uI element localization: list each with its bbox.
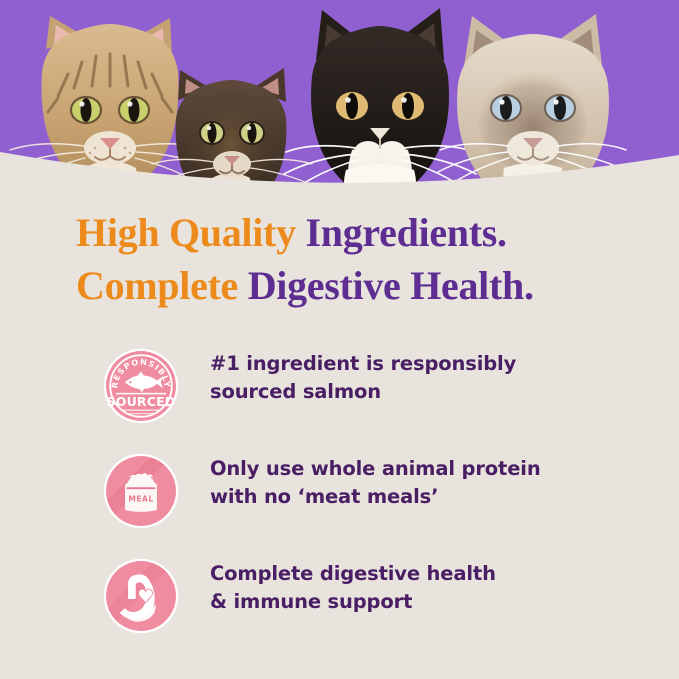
badge-main-text: MEAL [128,495,153,504]
feature-text-line-2: sourced salmon [210,378,650,406]
badge-main-text: SOURCED [107,394,176,409]
headline-line-2-orange: Complete [76,263,248,308]
feature-text-line-2: with no ‘meat meals’ [210,483,650,511]
list-item: MEAL Only use whole animal protein with … [0,445,679,550]
no-meat-meals-badge: MEAL [103,453,179,529]
headline-line-1-orange: High Quality [76,210,305,255]
feature-text: Complete digestive health & immune suppo… [210,560,650,617]
feature-text-line-1: Only use whole animal protein [210,455,650,483]
list-item: Complete digestive health & immune suppo… [0,550,679,655]
seal-point-ragdoll-cat [438,14,628,190]
feature-text: Only use whole animal protein with no ‘m… [210,455,650,512]
headline-line-2: Complete Digestive Health. [76,260,676,313]
feature-text: #1 ingredient is responsibly sourced sal… [210,350,650,407]
feature-text-line-1: Complete digestive health [210,560,650,588]
feature-list: RESPONSIBLY SOURCED #1 ingredient is res… [0,340,679,655]
feature-text-line-2: & immune support [210,588,650,616]
headline-line-2-purple: Digestive Health. [248,263,534,308]
cats-illustration [0,0,679,190]
page-title: High Quality Ingredients. Complete Diges… [76,207,676,313]
headline-line-1: High Quality Ingredients. [76,207,676,260]
black-and-white-tuxedo-cat [284,8,476,190]
responsibly-sourced-badge: RESPONSIBLY SOURCED [103,348,179,424]
feature-text-line-1: #1 ingredient is responsibly [210,350,650,378]
cat-photo-banner [0,0,679,190]
digestive-health-badge [103,558,179,634]
headline-line-1-purple: Ingredients. [305,210,506,255]
feed-bag-icon: MEAL [125,473,157,512]
list-item: RESPONSIBLY SOURCED #1 ingredient is res… [0,340,679,445]
